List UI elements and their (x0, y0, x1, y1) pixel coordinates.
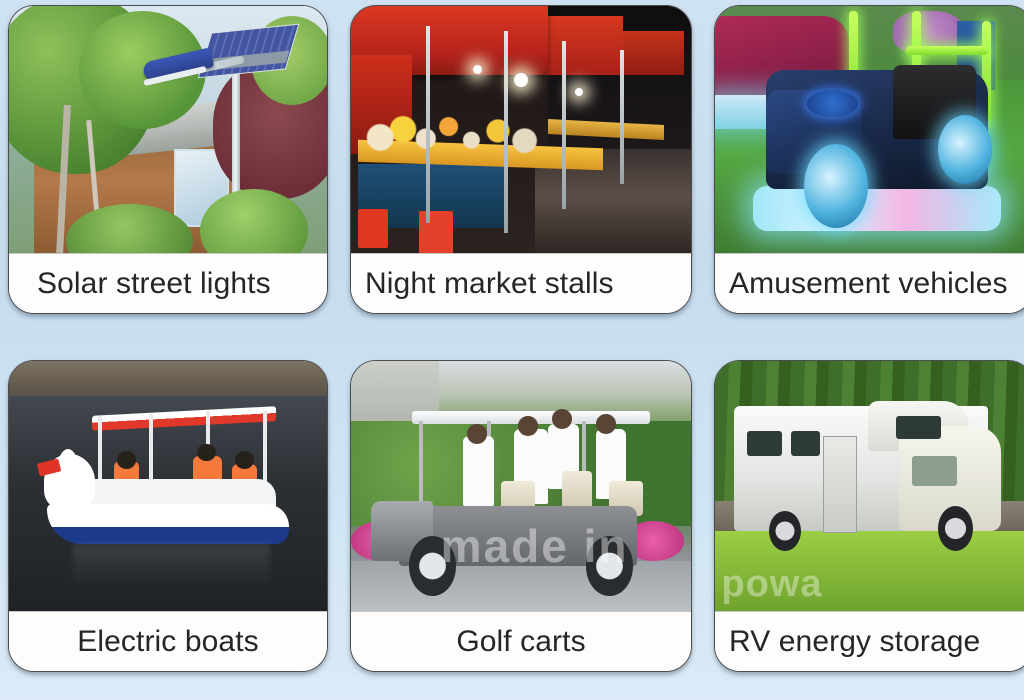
photo-solar-street-lights (9, 6, 327, 253)
led-wheel-front (804, 144, 868, 228)
led-wheel-rear (938, 115, 992, 184)
swan-neck (57, 449, 79, 494)
market-light-1 (514, 73, 528, 87)
card-label-amusement-vehicles: Amusement vehicles (715, 253, 1024, 313)
rv-window-1 (747, 431, 782, 456)
passenger-head-1 (117, 451, 136, 469)
cart-pillar-1 (419, 421, 423, 506)
market-light-3 (575, 88, 583, 96)
rv-door (823, 436, 857, 533)
water-reflection (73, 544, 270, 589)
cart-passenger-1 (463, 436, 494, 506)
card-golf-carts[interactable]: made in Golf carts (350, 360, 692, 672)
photo-rv-energy-storage: powa (715, 361, 1024, 611)
boat-hull (47, 504, 289, 544)
card-label-solar-street-lights: Solar street lights (9, 253, 327, 313)
canopy-post-4 (263, 411, 267, 486)
cart-passenger-head-2 (518, 416, 538, 436)
image-watermark: powa (721, 551, 905, 606)
card-electric-boats[interactable]: Electric boats (8, 360, 328, 672)
card-amusement-vehicles[interactable]: Amusement vehicles (714, 5, 1024, 314)
steering-wheel (807, 90, 858, 117)
market-goods (365, 105, 555, 159)
card-label-rv-energy-storage: RV energy storage (715, 611, 1024, 671)
rv-wheel-rear (769, 511, 801, 551)
tent-pole-1 (426, 26, 430, 224)
red-stool-2 (419, 211, 453, 253)
photo-golf-carts: made in (351, 361, 691, 611)
card-night-market-stalls[interactable]: Night market stalls (350, 5, 692, 314)
red-stool-1 (358, 209, 389, 249)
far-bank (9, 361, 327, 396)
rv-windshield (912, 456, 957, 486)
card-rv-energy-storage[interactable]: powa RV energy storage (714, 360, 1024, 672)
card-label-night-market-stalls: Night market stalls (351, 253, 691, 313)
passenger-head-2 (197, 444, 216, 462)
photo-night-market-stalls (351, 6, 691, 253)
card-label-electric-boats: Electric boats (9, 611, 327, 671)
rv-window-2 (791, 431, 820, 456)
photo-electric-boats (9, 361, 327, 611)
tent-pole-3 (562, 41, 566, 209)
glowing-platform (753, 186, 1001, 230)
rv-wheel-front (938, 506, 973, 551)
passenger-head-3 (235, 451, 254, 469)
photo-amusement-vehicles (715, 6, 1024, 253)
card-label-golf-carts: Golf carts (351, 611, 691, 671)
tent-pole-2 (504, 31, 508, 234)
cart-passenger-head-4 (596, 414, 616, 434)
card-solar-street-lights[interactable]: Solar street lights (8, 5, 328, 314)
neon-rail-top (906, 46, 989, 55)
image-watermark: made in (439, 501, 629, 591)
cart-passenger-head-1 (467, 424, 487, 444)
cart-passenger-head-3 (552, 409, 572, 429)
tent-pole-4 (620, 50, 624, 183)
rv-window-over-cab (896, 416, 941, 439)
scenario-card-grid: Solar street lights Night market stalls (0, 0, 1024, 700)
